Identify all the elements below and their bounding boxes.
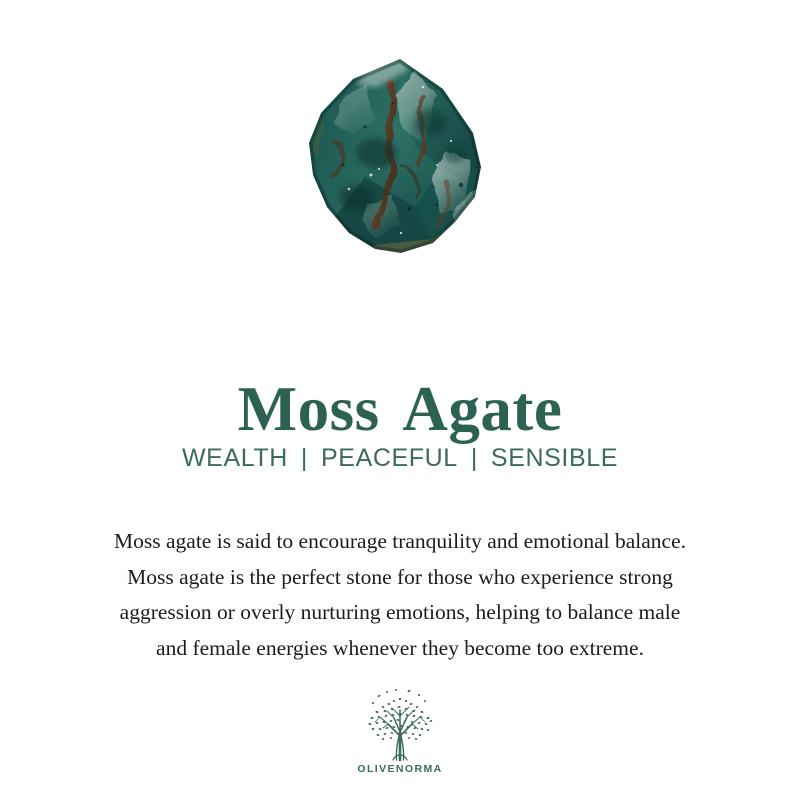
keyword-wealth: WEALTH: [182, 444, 288, 472]
keyword-sensible: SENSIBLE: [491, 444, 618, 472]
moss-agate-info-card: Moss Agate WEALTH|PEACEFUL|SENSIBLE Moss…: [0, 0, 800, 800]
description-line: Moss agate is said to encourage tranquil…: [40, 524, 760, 560]
stone-image-container: [0, 0, 800, 300]
description-line: Moss agate is the perfect stone for thos…: [40, 560, 760, 596]
keyword-separator: |: [471, 444, 478, 473]
description-line: aggression or overly nurturing emotions,…: [40, 595, 760, 631]
brand-logo: OLIVENORMA: [0, 686, 800, 775]
description-line: and female energies whenever they become…: [40, 631, 760, 667]
olive-tree-icon: [361, 686, 439, 762]
keyword-peaceful: PEACEFUL: [321, 444, 458, 472]
brand-wordmark: OLIVENORMA: [357, 763, 442, 775]
keyword-separator: |: [301, 444, 308, 473]
page-title: Moss Agate: [0, 378, 800, 441]
keyword-list: WEALTH|PEACEFUL|SENSIBLE: [0, 444, 800, 473]
moss-agate-stone-image: [305, 57, 495, 257]
description-paragraph: Moss agate is said to encourage tranquil…: [40, 524, 760, 666]
